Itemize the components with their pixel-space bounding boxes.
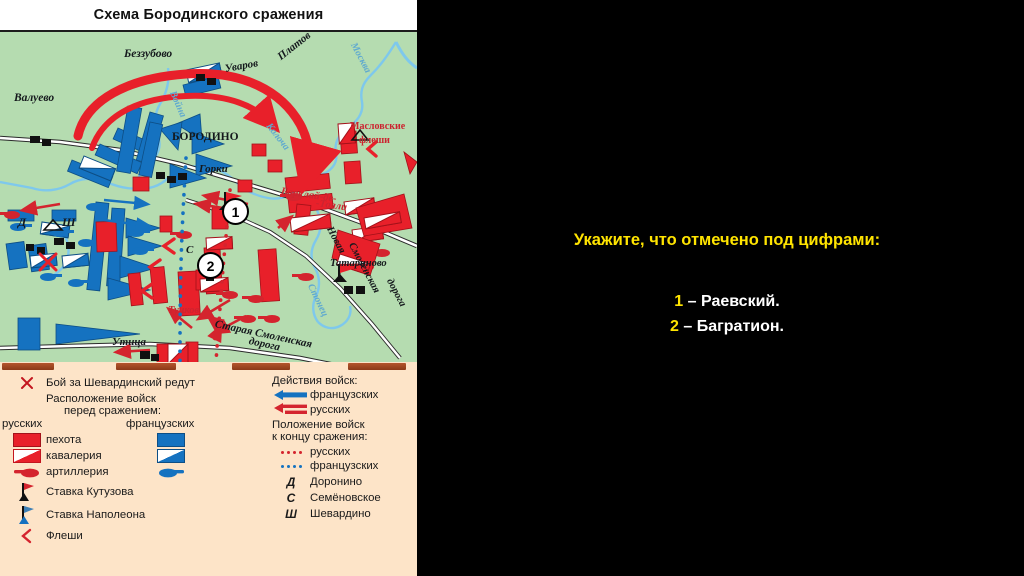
artillery-blue-icon: [152, 465, 190, 479]
legend-end-russian-label: русских: [310, 446, 350, 458]
artillery-red-icon: [8, 465, 46, 479]
legend-side-headers: русских французских: [8, 418, 270, 433]
legend-cavalry-label: кавалерия: [46, 450, 152, 462]
abbrev-label-semenovskoe: Семёновское: [310, 492, 381, 504]
legend-column-right: Действия войск: французских: [272, 375, 417, 523]
map-legend: Бой за Шевардинский редут Расположение в…: [0, 371, 417, 576]
legend-end-heading: Положение войск к концу сражения:: [272, 419, 417, 443]
legend-actions-heading: Действия войск:: [272, 375, 417, 387]
infantry-red-icon: [8, 433, 46, 447]
decorative-band: [0, 362, 417, 371]
legend-col-french: французских: [126, 418, 194, 430]
legend-abbrev-semenovskoe: С Семёновское: [272, 491, 417, 505]
legend-col-russian: русских: [2, 418, 42, 430]
cavalry-red-icon: [8, 449, 46, 463]
legend-artillery-label: артиллерия: [46, 466, 152, 478]
map-label: Утица: [112, 336, 146, 348]
cavalry-blue-icon: [152, 449, 190, 463]
legend-hq-napoleon: Ставка Наполеона: [8, 505, 270, 525]
legend-abbrev-shevardino: Ш Шевардино: [272, 507, 417, 521]
answer-number-1: 1: [674, 293, 683, 310]
flag-red-icon: [8, 482, 46, 502]
legend-unit-infantry: пехота: [8, 433, 270, 447]
map-label: Д: [18, 215, 26, 230]
answer-number-2: 2: [670, 318, 679, 335]
answer-name-1: Раевский.: [701, 293, 780, 310]
legend-hq-kutuzov: Ставка Кутузова: [8, 482, 270, 502]
deployment-line-2: перед сражением:: [64, 405, 270, 417]
abbrev-label-doronino: Доронино: [310, 476, 362, 488]
legend-kutuzov-label: Ставка Кутузова: [46, 486, 134, 498]
legend-end-russian: русских: [272, 446, 417, 458]
legend-fleches: Флеши: [8, 528, 270, 544]
infantry-blue-icon: [152, 433, 190, 447]
answer-row-2: 2 – Багратион.: [430, 314, 1024, 339]
map-label: Масловские: [350, 121, 405, 132]
chevron-red-icon: [8, 528, 46, 544]
legend-action-russian-label: русских: [310, 404, 350, 416]
map-label: С: [186, 244, 193, 256]
legend-end-french-label: французских: [310, 460, 378, 472]
legend-action-french-label: французских: [310, 389, 378, 401]
legend-napoleon-label: Ставка Наполеона: [46, 509, 145, 521]
map-label: флеши: [359, 135, 390, 146]
map-title-bar: Схема Бородинского сражения: [0, 0, 417, 32]
legend-deployment-heading: Расположение войск перед сражением:: [46, 393, 270, 417]
legend-action-french: французских: [272, 389, 417, 401]
map-label: Горки: [199, 163, 228, 175]
arrow-blue-icon: [272, 389, 310, 401]
map-marker-2[interactable]: 2: [197, 252, 224, 279]
map-card: Схема Бородинского сражения: [0, 0, 417, 576]
legend-abbrev-doronino: Д Доронино: [272, 475, 417, 489]
battle-cross-icon: [8, 375, 46, 391]
dots-blue-icon: [272, 465, 310, 468]
answer-dash-2: –: [679, 318, 697, 335]
arrow-red-icon: [272, 403, 310, 417]
legend-unit-artillery: артиллерия: [8, 465, 270, 479]
map-label: Ш: [62, 215, 76, 230]
legend-end-french: французских: [272, 460, 417, 472]
answer-row-1: 1 – Раевский.: [430, 289, 1024, 314]
abbrev-key-d: Д: [272, 475, 310, 489]
map-label: БОРОДИНО: [172, 131, 239, 143]
question-panel: Укажите, что отмечено под цифрами: 1 – Р…: [430, 0, 1024, 576]
abbrev-key-sh: Ш: [272, 507, 310, 521]
abbrev-label-shevardino: Шевардино: [310, 508, 371, 520]
flag-blue-icon: [8, 505, 46, 525]
abbrev-key-s: С: [272, 491, 310, 505]
map-marker-1[interactable]: 1: [222, 198, 249, 225]
end-head-line-2: к концу сражения:: [272, 431, 417, 443]
battle-map-svg: [0, 32, 417, 362]
legend-unit-cavalry: кавалерия: [8, 449, 270, 463]
end-head-line-1: Положение войск: [272, 419, 417, 431]
map-label: Беззубово: [124, 48, 172, 60]
answer-name-2: Багратион.: [697, 318, 784, 335]
legend-action-russian: русских: [272, 403, 417, 417]
slide-root: Схема Бородинского сражения: [0, 0, 1024, 576]
answer-dash-1: –: [683, 293, 701, 310]
map-label: Валуево: [14, 92, 54, 104]
legend-fleches-label: Флеши: [46, 530, 83, 542]
dots-red-icon: [272, 451, 310, 454]
map-image: БеззубовоВалуевоУваровПлатовМоскваВойнаБ…: [0, 32, 417, 362]
map-label: Татариново: [330, 258, 387, 269]
legend-infantry-label: пехота: [46, 434, 152, 446]
map-label: Тучков: [168, 305, 199, 316]
answer-list: 1 – Раевский. 2 – Багратион.: [430, 289, 1024, 339]
question-heading: Укажите, что отмечено под цифрами:: [430, 231, 1024, 250]
legend-column-left: Бой за Шевардинский редут Расположение в…: [8, 375, 270, 546]
deployment-line-1: Расположение войск: [46, 393, 270, 405]
legend-shevardino-row: Бой за Шевардинский редут: [8, 375, 270, 391]
legend-shevardino-label: Бой за Шевардинский редут: [46, 377, 195, 389]
map-title: Схема Бородинского сражения: [94, 7, 324, 23]
